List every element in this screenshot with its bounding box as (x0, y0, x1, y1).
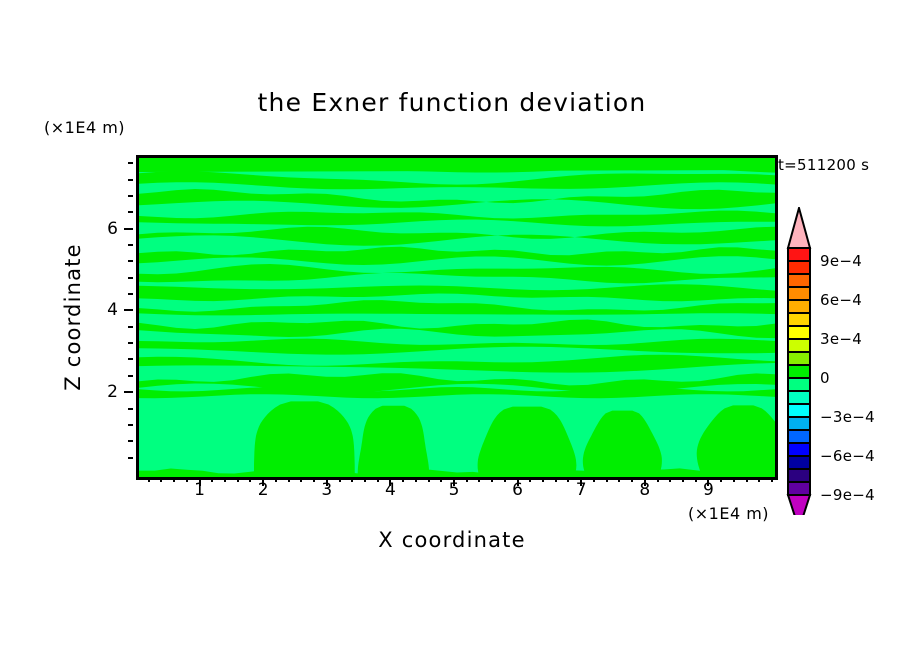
x-axis-minor-tick (529, 477, 531, 482)
y-axis-minor-tick (128, 358, 133, 360)
x-axis-minor-tick (160, 477, 162, 482)
colorbar-tick-label: 9e−4 (820, 252, 862, 270)
y-axis-major-tick (124, 391, 133, 393)
figure-canvas: the Exner function deviation (×1E4 m) (×… (0, 0, 904, 654)
x-axis-minor-tick (428, 477, 430, 482)
y-axis-minor-tick (128, 244, 133, 246)
y-axis-minor-tick (128, 277, 133, 279)
x-axis-tick-label: 3 (321, 480, 332, 500)
x-axis-minor-tick (364, 477, 366, 482)
contour-field (139, 158, 775, 477)
y-axis-minor-tick (128, 440, 133, 442)
y-axis-minor-tick (128, 457, 133, 459)
x-axis-minor-tick (275, 477, 277, 482)
x-axis-minor-tick (618, 477, 620, 482)
colorbar-segment (788, 482, 810, 495)
y-axis-minor-tick (128, 424, 133, 426)
colorbar-tick-label: −6e−4 (820, 447, 875, 465)
x-axis-minor-tick (466, 477, 468, 482)
x-axis-minor-tick (478, 477, 480, 482)
colorbar-segment (788, 352, 810, 365)
y-axis-minor-tick (128, 162, 133, 164)
colorbar-segment (788, 456, 810, 469)
x-axis-minor-tick (402, 477, 404, 482)
y-axis-minor-tick (128, 260, 133, 262)
y-axis-minor-tick (128, 293, 133, 295)
x-axis-tick-label: 7 (576, 480, 587, 500)
x-axis-minor-tick (504, 477, 506, 482)
x-axis-minor-tick (491, 477, 493, 482)
colorbar-segment (788, 326, 810, 339)
y-axis-minor-tick (128, 326, 133, 328)
x-axis-minor-tick (593, 477, 595, 482)
y-axis-minor-tick (128, 195, 133, 197)
colorbar-under-arrow (788, 495, 810, 515)
colorbar-segment (788, 248, 810, 261)
x-axis-minor-tick (542, 477, 544, 482)
y-axis-major-tick (124, 228, 133, 230)
x-axis-minor-tick (249, 477, 251, 482)
x-axis-minor-tick (377, 477, 379, 482)
y-axis-minor-tick (128, 211, 133, 213)
colorbar-segment (788, 391, 810, 404)
x-axis-tick-label: 4 (385, 480, 396, 500)
x-axis-minor-tick (657, 477, 659, 482)
contour-band (139, 158, 775, 172)
x-axis-tick-label: 6 (512, 480, 523, 500)
colorbar-segment (788, 287, 810, 300)
x-axis-minor-tick (758, 477, 760, 482)
x-axis-minor-tick (313, 477, 315, 482)
colorbar-segment (788, 365, 810, 378)
colorbar-tick-label: −3e−4 (820, 408, 875, 426)
x-axis-minor-tick (148, 477, 150, 482)
time-annotation: t=511200 s (778, 156, 869, 174)
colorbar-segment (788, 430, 810, 443)
x-axis-tick-label: 2 (258, 480, 269, 500)
colorbar-segment (788, 417, 810, 430)
colorbar-swatches (783, 207, 815, 515)
y-axis-minor-tick (128, 375, 133, 377)
x-axis-minor-tick (415, 477, 417, 482)
page-title: the Exner function deviation (0, 88, 904, 117)
y-axis-title: Z coordinate (61, 217, 85, 417)
x-axis-minor-tick (288, 477, 290, 482)
colorbar-segment (788, 404, 810, 417)
colorbar-over-arrow (788, 208, 810, 248)
colorbar-segment (788, 443, 810, 456)
x-axis-minor-tick (669, 477, 671, 482)
x-axis-minor-tick (695, 477, 697, 482)
x-axis-minor-tick (339, 477, 341, 482)
colorbar-segment (788, 274, 810, 287)
y-axis-minor-tick (128, 408, 133, 410)
colorbar-tick-label: 6e−4 (820, 291, 862, 309)
y-axis-minor-tick (128, 179, 133, 181)
x-axis-tick-label: 8 (639, 480, 650, 500)
contour-plot-panel (136, 155, 778, 480)
x-axis-minor-tick (173, 477, 175, 482)
colorbar-segment (788, 313, 810, 326)
x-axis-minor-tick (300, 477, 302, 482)
x-axis-minor-tick (720, 477, 722, 482)
colorbar-tick-label: −9e−4 (820, 486, 875, 504)
y-axis-tick-label: 4 (92, 300, 118, 320)
colorbar-tick-label: 3e−4 (820, 330, 862, 348)
x-axis-minor-tick (606, 477, 608, 482)
y-axis-unit-label: (×1E4 m) (44, 118, 125, 137)
x-axis-minor-tick (351, 477, 353, 482)
y-axis-major-tick (124, 309, 133, 311)
x-axis-minor-tick (771, 477, 773, 482)
x-axis-minor-tick (733, 477, 735, 482)
colorbar-segment (788, 469, 810, 482)
x-axis-tick-label: 1 (194, 480, 205, 500)
colorbar-segment (788, 300, 810, 313)
x-axis-tick-label: 9 (703, 480, 714, 500)
y-axis-tick-label: 6 (92, 219, 118, 239)
x-axis-minor-tick (186, 477, 188, 482)
y-axis-tick-label: 2 (92, 382, 118, 402)
x-axis-minor-tick (224, 477, 226, 482)
colorbar-tick-label: 0 (820, 369, 830, 387)
colorbar-segment (788, 378, 810, 391)
colorbar-segment (788, 261, 810, 274)
x-axis-minor-tick (440, 477, 442, 482)
x-axis-unit-label: (×1E4 m) (688, 504, 769, 523)
x-axis-minor-tick (237, 477, 239, 482)
x-axis-minor-tick (746, 477, 748, 482)
colorbar-segment (788, 339, 810, 352)
x-axis-title: X coordinate (0, 528, 904, 552)
colorbar (783, 207, 815, 519)
x-axis-minor-tick (211, 477, 213, 482)
x-axis-minor-tick (555, 477, 557, 482)
x-axis-minor-tick (567, 477, 569, 482)
x-axis-minor-tick (631, 477, 633, 482)
x-axis-tick-label: 5 (449, 480, 460, 500)
x-axis-minor-tick (682, 477, 684, 482)
y-axis-minor-tick (128, 342, 133, 344)
